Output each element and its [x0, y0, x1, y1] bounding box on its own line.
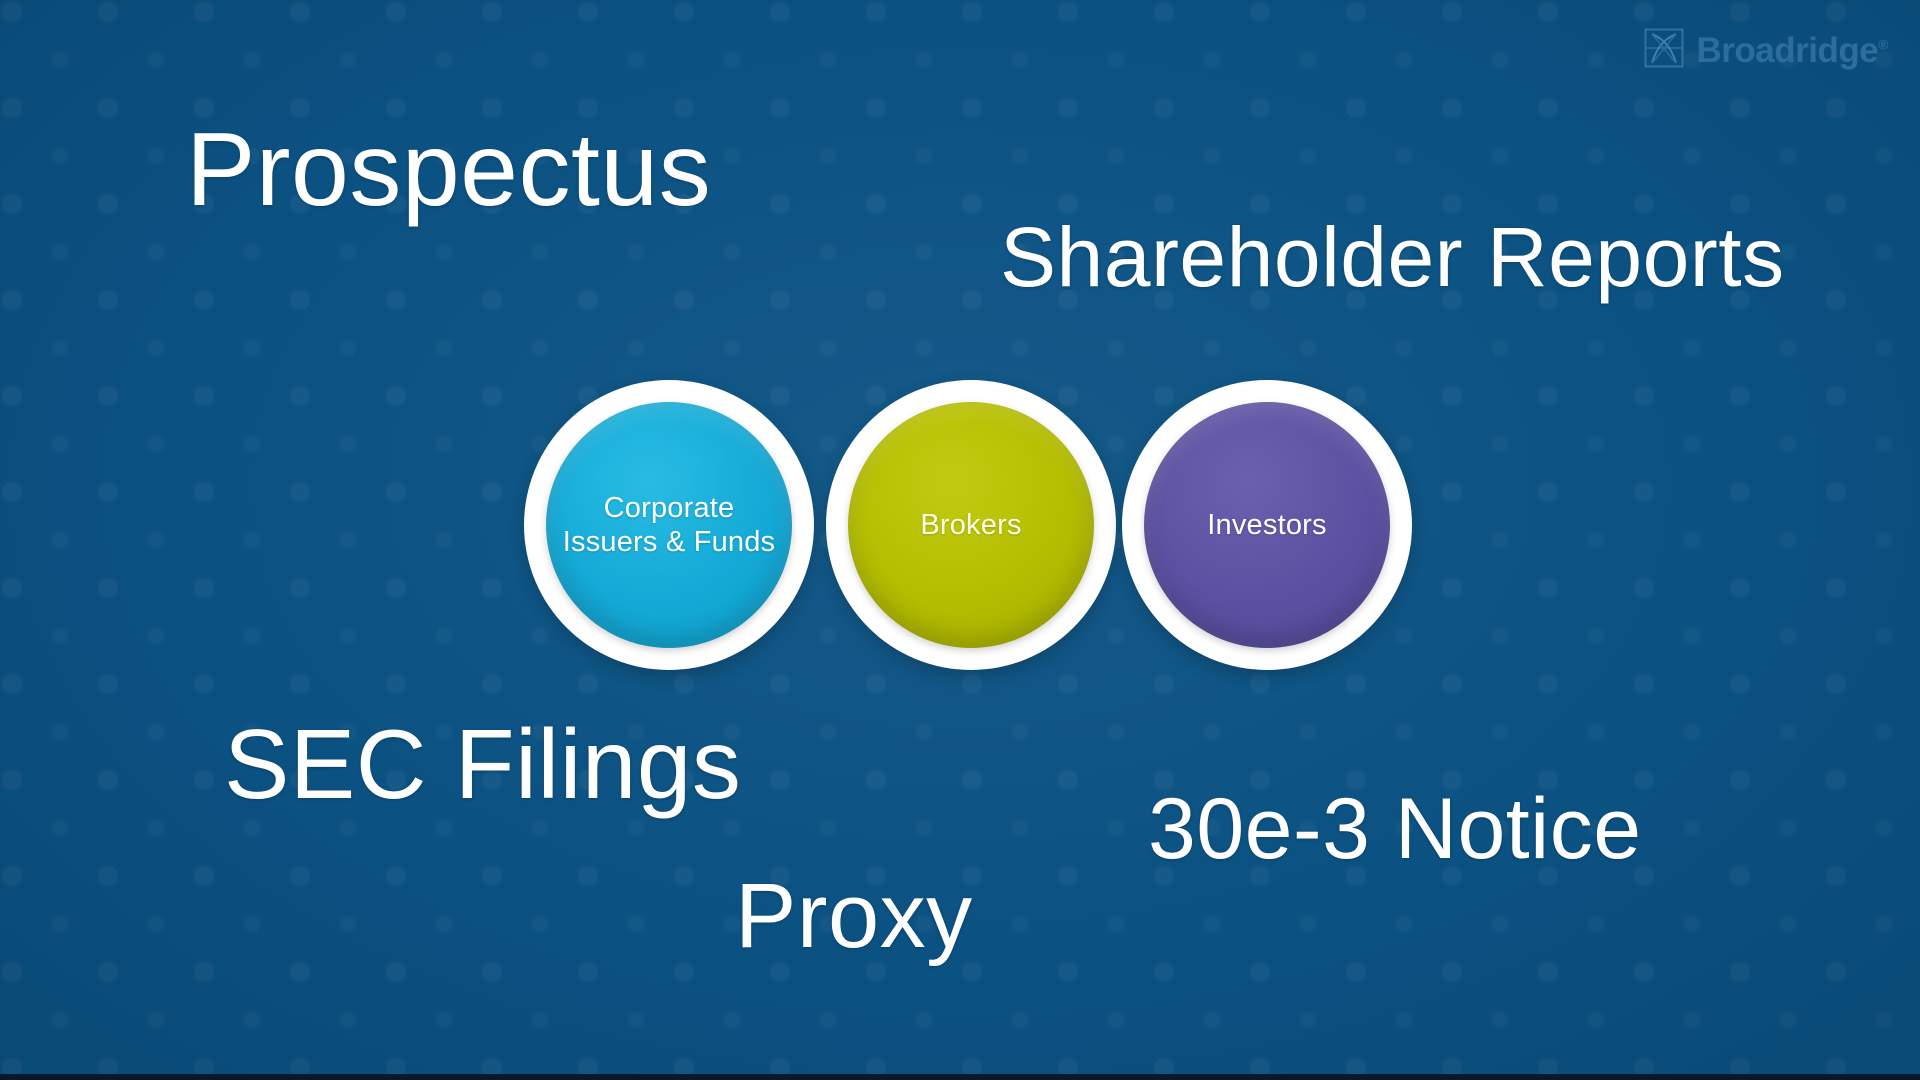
broadridge-butterfly-mark-icon	[1642, 26, 1686, 75]
logo-text: Broadridge	[1696, 31, 1878, 70]
keyword-sec-filings: SEC Filings	[224, 715, 741, 813]
node-brokers-fill: Brokers	[848, 402, 1094, 648]
trademark-symbol: ®	[1878, 36, 1888, 52]
slide-canvas: Broadridge® Prospectus Shareholder Repor…	[0, 0, 1920, 1080]
letterbox-bar-bottom	[0, 1074, 1920, 1080]
keyword-prospectus: Prospectus	[186, 118, 711, 222]
keyword-proxy: Proxy	[735, 870, 973, 962]
node-issuers-label-line2: Issuers & Funds	[563, 526, 776, 558]
node-investors-label: Investors	[1191, 508, 1342, 542]
node-corporate-issuers-and-funds: Corporate Issuers & Funds	[524, 380, 814, 670]
node-brokers: Brokers	[826, 380, 1116, 670]
node-issuers-label-line1: Corporate	[604, 492, 735, 524]
node-brokers-label: Brokers	[904, 508, 1037, 542]
node-investors: Investors	[1122, 380, 1412, 670]
broadridge-logo: Broadridge®	[1642, 26, 1888, 75]
keyword-shareholder-reports: Shareholder Reports	[1000, 215, 1785, 299]
node-issuers-label: Corporate Issuers & Funds	[547, 491, 792, 559]
keyword-30e3-notice: 30e-3 Notice	[1148, 786, 1642, 872]
broadridge-wordmark: Broadridge®	[1696, 33, 1888, 68]
node-issuers-fill: Corporate Issuers & Funds	[546, 402, 792, 648]
node-investors-fill: Investors	[1144, 402, 1390, 648]
distribution-chain-diagram: Corporate Issuers & Funds Brokers Invest…	[0, 380, 1920, 690]
